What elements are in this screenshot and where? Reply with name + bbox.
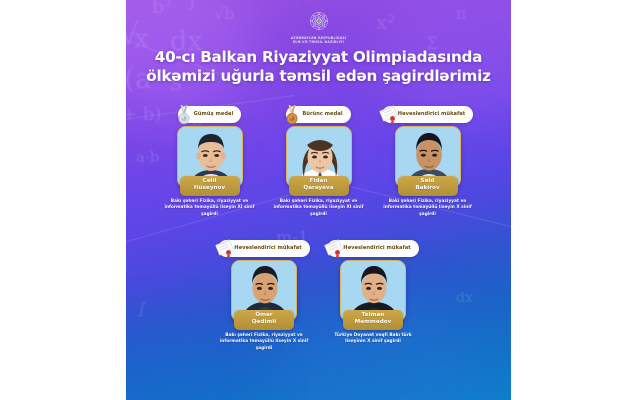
award-badge: Həvəsləndirici mükafat bbox=[218, 240, 310, 257]
student-nameplate: Telman Məmmədov bbox=[343, 310, 403, 330]
silver-medal-icon bbox=[174, 104, 194, 126]
student-description: Bakı şəhəri Fizika, riyaziyyat və inform… bbox=[382, 199, 474, 219]
award-badge-label: Həvəsləndirici mükafat bbox=[398, 111, 466, 118]
award-badge: Həvəsləndirici mükafat bbox=[327, 240, 419, 257]
student-nameplate: Səid Bakirov bbox=[398, 176, 458, 196]
award-badge-label: Həvəsləndirici mükafat bbox=[343, 245, 411, 252]
student-card: Bürünc medal bbox=[270, 106, 368, 219]
student-nameplate: Ömər Qədimli bbox=[234, 310, 294, 330]
letterbox-left bbox=[0, 0, 126, 400]
certificate-scroll-icon bbox=[323, 238, 343, 260]
student-last-name: Bakirov bbox=[400, 185, 456, 192]
student-description: Türkiyə Dəyanət vəqfi Bakı türk liseyini… bbox=[327, 333, 419, 346]
student-card: Həvəsləndirici mükafat bbox=[324, 240, 422, 353]
student-description: Bakı şəhəri Fizika, riyaziyyat və inform… bbox=[218, 333, 310, 353]
page-title-line2: ölkəmizi uğurla təmsil edən şagirdlərimi… bbox=[140, 67, 497, 86]
page-title-line1: 40-cı Balkan Riyaziyyat Olimpiadasında bbox=[155, 48, 482, 66]
award-badge-label: Həvəsləndirici mükafat bbox=[234, 245, 302, 252]
student-last-name: Hüseynov bbox=[182, 185, 238, 192]
student-card-row-top: Gümüş medal bbox=[126, 106, 511, 219]
page-title: 40-cı Balkan Riyaziyyat Olimpiadasında ö… bbox=[140, 48, 497, 86]
student-last-name: Qədimli bbox=[236, 319, 292, 326]
student-last-name: Məmmədov bbox=[345, 319, 401, 326]
organization-logo-block: AZƏRBAYCAN RESPUBLİKASI ELM VƏ TƏHSİL NA… bbox=[126, 8, 511, 45]
certificate-scroll-icon bbox=[214, 238, 234, 260]
student-nameplate: Cəlil Hüseynov bbox=[180, 176, 240, 196]
organization-name-line2: ELM VƏ TƏHSİL NAZİRLİYİ bbox=[291, 40, 346, 44]
azerbaijan-education-ministry-emblem-icon bbox=[306, 8, 332, 34]
screenshot-canvas: √ x dx b² ∫ √b (a s + b) n² x² Σ π m-1 a… bbox=[0, 0, 637, 400]
award-badge-label: Gümüş medal bbox=[194, 111, 234, 118]
student-description: Bakı şəhəri Fizika, riyaziyyat və inform… bbox=[273, 199, 365, 219]
organization-name: AZƏRBAYCAN RESPUBLİKASI ELM VƏ TƏHSİL NA… bbox=[291, 36, 346, 45]
student-card: Həvəsləndirici mükafat bbox=[379, 106, 477, 219]
bronze-medal-icon bbox=[282, 104, 302, 126]
award-badge: Həvəsləndirici mükafat bbox=[382, 106, 474, 123]
award-badge-label: Bürünc medal bbox=[302, 111, 342, 118]
award-badge: Bürünc medal bbox=[286, 106, 350, 123]
student-description: Bakı şəhəri Fizika, riyaziyyat və inform… bbox=[164, 199, 256, 219]
letterbox-right bbox=[511, 0, 637, 400]
student-nameplate: Fidan Qarayeva bbox=[289, 176, 349, 196]
award-badge: Gümüş medal bbox=[178, 106, 242, 123]
student-card-row-bottom: Həvəsləndirici mükafat bbox=[126, 240, 511, 353]
student-card: Gümüş medal bbox=[161, 106, 259, 219]
poster-image: √ x dx b² ∫ √b (a s + b) n² x² Σ π m-1 a… bbox=[126, 0, 511, 400]
certificate-scroll-icon bbox=[378, 104, 398, 126]
student-last-name: Qarayeva bbox=[291, 185, 347, 192]
student-card: Həvəsləndirici mükafat bbox=[215, 240, 313, 353]
